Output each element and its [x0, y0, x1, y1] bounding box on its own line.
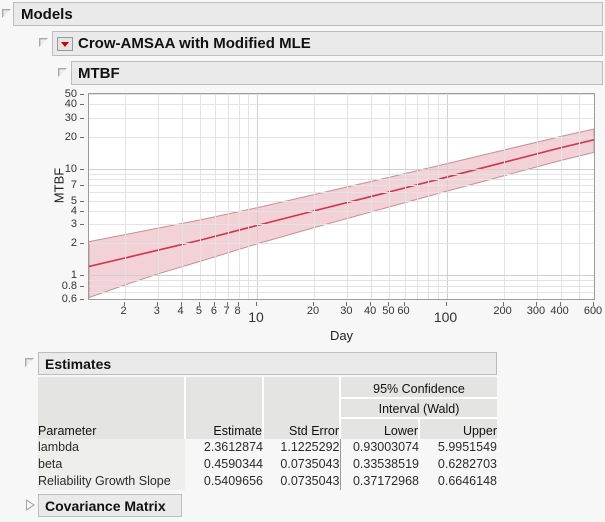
table-row[interactable]: beta 0.4590344 0.0735043 0.33538519 0.62…: [38, 456, 497, 473]
gridline-horizontal: [89, 179, 594, 180]
x-tick-label: 4: [177, 305, 183, 317]
x-tick-mark: [238, 302, 239, 306]
y-tick-label: 30: [65, 112, 77, 124]
gridline-vertical: [257, 94, 258, 299]
gridline-horizontal: [89, 185, 594, 186]
y-tick-label: 2: [71, 237, 77, 249]
ci-spacer-stderr: [263, 377, 340, 398]
plot-area[interactable]: [88, 93, 595, 300]
gridline-horizontal: [89, 104, 594, 105]
table-header-row-ci2: Interval (Wald): [38, 398, 497, 418]
cell-upper: 0.6282703: [419, 456, 497, 473]
gridline-vertical: [537, 94, 538, 299]
gridline-vertical: [158, 94, 159, 299]
y-tick-label: 5: [71, 195, 77, 207]
model-label: Crow-AMSAA with Modified MLE: [78, 35, 311, 52]
red-triangle-menu-icon[interactable]: [57, 37, 73, 51]
gridline-vertical: [389, 94, 390, 299]
x-axis-title: Day: [88, 328, 595, 343]
y-tick-mark: [80, 118, 84, 119]
mtbf-curve-svg: [89, 94, 594, 299]
ci2-spacer-estimate: [185, 398, 263, 418]
models-disclosure-triangle[interactable]: [1, 8, 13, 20]
y-tick-label: 50: [65, 88, 77, 100]
models-outline-header[interactable]: Models: [13, 2, 603, 26]
gridline-vertical: [182, 94, 183, 299]
x-axis-ticks: 2345678102030405060100200300400600: [88, 302, 595, 328]
x-tick-label: 100: [434, 309, 457, 325]
gridline-vertical: [347, 94, 348, 299]
x-tick-label: 7: [224, 305, 230, 317]
cell-lower: 0.33538519: [340, 456, 419, 473]
ci-header-line1: 95% Confidence: [340, 377, 497, 398]
x-tick-mark: [404, 302, 405, 306]
x-tick-mark: [593, 302, 594, 306]
ci-header-line2: Interval (Wald): [340, 398, 497, 418]
gridline-vertical: [428, 94, 429, 299]
gridline-horizontal: [89, 286, 594, 287]
y-tick-label: 10: [65, 163, 77, 175]
gridline-vertical: [239, 94, 240, 299]
gridline-horizontal: [89, 211, 594, 212]
gridline-horizontal: [89, 280, 594, 281]
gridline-vertical: [594, 94, 595, 299]
gridline-horizontal: [89, 243, 594, 244]
ci2-spacer-param: [38, 398, 185, 418]
x-tick-mark: [199, 302, 200, 306]
gridline-vertical: [228, 94, 229, 299]
cell-upper: 0.6646148: [419, 473, 497, 490]
mtbf-chart: 0.60.81234571020304050 23456781020304050…: [40, 88, 600, 343]
cell-estimate: 2.3612874: [185, 439, 263, 456]
models-label: Models: [21, 6, 73, 23]
x-tick-mark: [370, 302, 371, 306]
x-tick-mark: [346, 302, 347, 306]
gridline-horizontal: [89, 169, 594, 170]
y-tick-mark: [80, 243, 84, 244]
x-tick-label: 3: [154, 305, 160, 317]
table-header-row-columns: Parameter Estimate Std Error Lower Upper: [38, 418, 497, 439]
gridline-horizontal: [89, 192, 594, 193]
x-tick-label: 30: [340, 305, 352, 317]
gridline-vertical: [561, 94, 562, 299]
cell-std-error: 0.0735043: [263, 456, 340, 473]
ci-spacer-param: [38, 377, 185, 398]
gridline-vertical: [314, 94, 315, 299]
y-tick-mark: [80, 275, 84, 276]
gridline-vertical: [438, 94, 439, 299]
cell-parameter: lambda: [38, 439, 185, 456]
gridline-vertical: [200, 94, 201, 299]
cell-estimate: 0.5409656: [185, 473, 263, 490]
gridline-horizontal: [89, 201, 594, 202]
gridline-vertical: [215, 94, 216, 299]
estimates-label: Estimates: [45, 356, 111, 372]
column-header-parameter[interactable]: Parameter: [38, 418, 185, 439]
x-tick-label: 10: [248, 309, 264, 325]
x-tick-label: 2: [120, 305, 126, 317]
gridline-vertical: [248, 94, 249, 299]
cell-std-error: 1.1225292: [263, 439, 340, 456]
covariance-outline-header[interactable]: Covariance Matrix: [38, 494, 182, 517]
x-tick-mark: [446, 302, 447, 306]
x-tick-mark: [181, 302, 182, 306]
table-row[interactable]: Reliability Growth Slope 0.5409656 0.073…: [38, 473, 497, 490]
gridline-horizontal: [89, 299, 594, 300]
cell-parameter: beta: [38, 456, 185, 473]
column-header-lower[interactable]: Lower: [340, 418, 419, 439]
gridline-horizontal: [89, 292, 594, 293]
cell-std-error: 0.0735043: [263, 473, 340, 490]
cell-lower: 0.37172968: [340, 473, 419, 490]
gridline-horizontal: [89, 94, 594, 95]
y-tick-mark: [80, 299, 84, 300]
x-tick-mark: [560, 302, 561, 306]
column-header-estimate[interactable]: Estimate: [185, 418, 263, 439]
mtbf-disclosure-triangle[interactable]: [57, 67, 69, 79]
y-tick-label: 4: [71, 205, 77, 217]
x-tick-label: 40: [364, 305, 376, 317]
y-axis-title: MTBF: [52, 141, 67, 231]
x-tick-mark: [256, 302, 257, 306]
x-tick-label: 60: [397, 305, 409, 317]
x-tick-label: 300: [527, 305, 545, 317]
x-tick-label: 600: [584, 305, 602, 317]
x-tick-mark: [214, 302, 215, 306]
x-tick-label: 200: [493, 305, 511, 317]
y-tick-label: 40: [65, 98, 77, 110]
x-tick-label: 400: [550, 305, 568, 317]
x-tick-label: 20: [307, 305, 319, 317]
y-tick-label: 0.6: [62, 293, 77, 305]
y-tick-mark: [80, 224, 84, 225]
cell-upper: 5.9951549: [419, 439, 497, 456]
ci2-spacer-stderr: [263, 398, 340, 418]
y-tick-mark: [80, 137, 84, 138]
gridline-horizontal: [89, 224, 594, 225]
estimates-disclosure-triangle[interactable]: [24, 357, 36, 369]
confidence-band: [89, 129, 594, 297]
mtbf-label: MTBF: [78, 65, 120, 82]
y-tick-mark: [80, 211, 84, 212]
gridline-vertical: [125, 94, 126, 299]
x-tick-mark: [503, 302, 504, 306]
x-tick-label: 5: [196, 305, 202, 317]
cell-estimate: 0.4590344: [185, 456, 263, 473]
y-tick-mark: [80, 104, 84, 105]
x-tick-mark: [536, 302, 537, 306]
x-tick-mark: [227, 302, 228, 306]
gridline-vertical: [417, 94, 418, 299]
gridline-vertical: [504, 94, 505, 299]
gridline-vertical: [579, 94, 580, 299]
cell-lower: 0.93003074: [340, 439, 419, 456]
x-tick-mark: [124, 302, 125, 306]
column-header-std-error[interactable]: Std Error: [263, 418, 340, 439]
y-tick-label: 1: [71, 269, 77, 281]
table-header-row-ci: 95% Confidence: [38, 377, 497, 398]
y-tick-label: 7: [71, 179, 77, 191]
y-tick-label: 3: [71, 218, 77, 230]
model-disclosure-triangle[interactable]: [38, 37, 50, 49]
y-tick-label: 0.8: [62, 280, 77, 292]
y-tick-label: 20: [65, 131, 77, 143]
gridline-horizontal: [89, 118, 594, 119]
gridline-vertical: [405, 94, 406, 299]
gridline-horizontal: [89, 137, 594, 138]
cell-parameter: Reliability Growth Slope: [38, 473, 185, 490]
estimates-table: 95% Confidence Interval (Wald) Parameter…: [38, 377, 497, 490]
covariance-disclosure-triangle[interactable]: [24, 499, 36, 511]
gridline-horizontal: [89, 174, 594, 175]
x-tick-mark: [388, 302, 389, 306]
y-tick-mark: [80, 185, 84, 186]
model-outline-header[interactable]: Crow-AMSAA with Modified MLE: [52, 31, 603, 56]
gridline-vertical: [371, 94, 372, 299]
x-tick-mark: [157, 302, 158, 306]
x-tick-label: 8: [235, 305, 241, 317]
y-tick-mark: [80, 201, 84, 202]
x-tick-label: 6: [211, 305, 217, 317]
mtbf-outline-header[interactable]: MTBF: [71, 61, 603, 85]
gridline-horizontal: [89, 275, 594, 276]
y-tick-mark: [80, 94, 84, 95]
table-row[interactable]: lambda 2.3612874 1.1225292 0.93003074 5.…: [38, 439, 497, 456]
column-header-upper[interactable]: Upper: [419, 418, 497, 439]
y-tick-mark: [80, 286, 84, 287]
estimates-outline-header[interactable]: Estimates: [38, 352, 497, 375]
x-tick-mark: [313, 302, 314, 306]
gridline-vertical: [447, 94, 448, 299]
ci-spacer-estimate: [185, 377, 263, 398]
covariance-label: Covariance Matrix: [45, 498, 166, 514]
x-tick-label: 50: [382, 305, 394, 317]
y-tick-mark: [80, 169, 84, 170]
